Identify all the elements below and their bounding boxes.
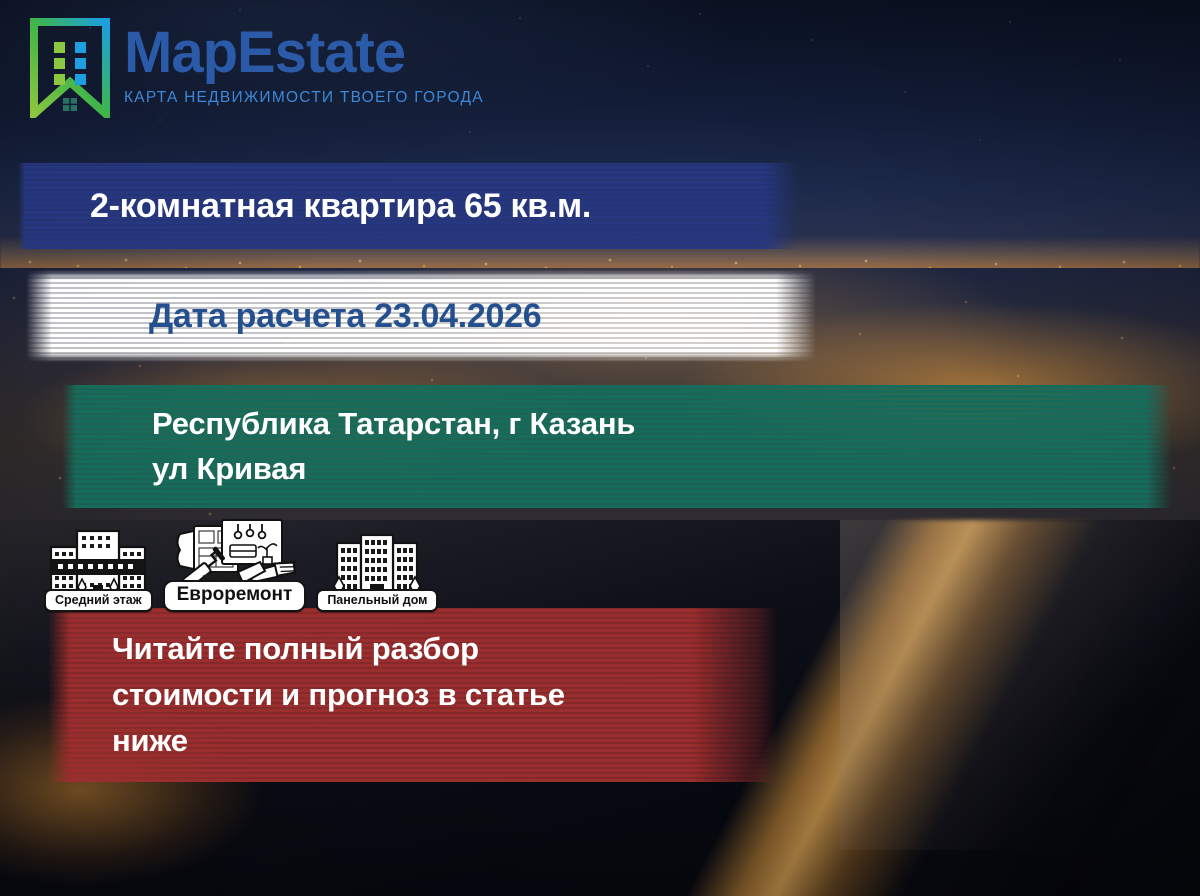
badge-mid-floor[interactable]: Средний этаж <box>44 521 153 612</box>
calculation-date-text: Дата расчета 23.04.2026 <box>149 297 541 336</box>
badge-renovation-label: Евроремонт <box>163 580 307 612</box>
property-title-text: 2-комнатная квартира 65 кв.м. <box>90 187 591 226</box>
real-estate-promo-poster: MapEstate КАРТА НЕДВИЖИМОСТИ ТВОЕГО ГОРО… <box>0 0 1200 896</box>
address-banner: Республика Татарстан, г Казань ул Кривая <box>62 385 1172 508</box>
brand-name: MapEstate <box>124 24 484 82</box>
cta-text: Читайте полный разбор стоимости и прогно… <box>112 626 565 764</box>
badge-mid-floor-label: Средний этаж <box>44 589 153 612</box>
brand-tagline: КАРТА НЕДВИЖИМОСТИ ТВОЕГО ГОРОДА <box>124 89 484 107</box>
cta-banner: Читайте полный разбор стоимости и прогно… <box>48 608 778 782</box>
brand-logo[interactable]: MapEstate КАРТА НЕДВИЖИМОСТИ ТВОЕГО ГОРО… <box>30 18 484 118</box>
bookmark-building-icon <box>30 18 110 118</box>
property-title-banner: 2-комнатная квартира 65 кв.м. <box>18 163 798 249</box>
badge-panel-house[interactable]: Панельный дом <box>316 521 438 612</box>
address-text: Республика Татарстан, г Казань ул Кривая <box>152 402 635 490</box>
brand-wordmark: MapEstate КАРТА НЕДВИЖИМОСТИ ТВОЕГО ГОРО… <box>124 18 484 107</box>
calculation-date-banner: Дата расчета 23.04.2026 <box>26 270 816 362</box>
badge-panel-house-label: Панельный дом <box>316 589 438 612</box>
badge-renovation[interactable]: Евроремонт <box>163 512 307 612</box>
feature-badges: Средний этаж <box>44 512 438 612</box>
